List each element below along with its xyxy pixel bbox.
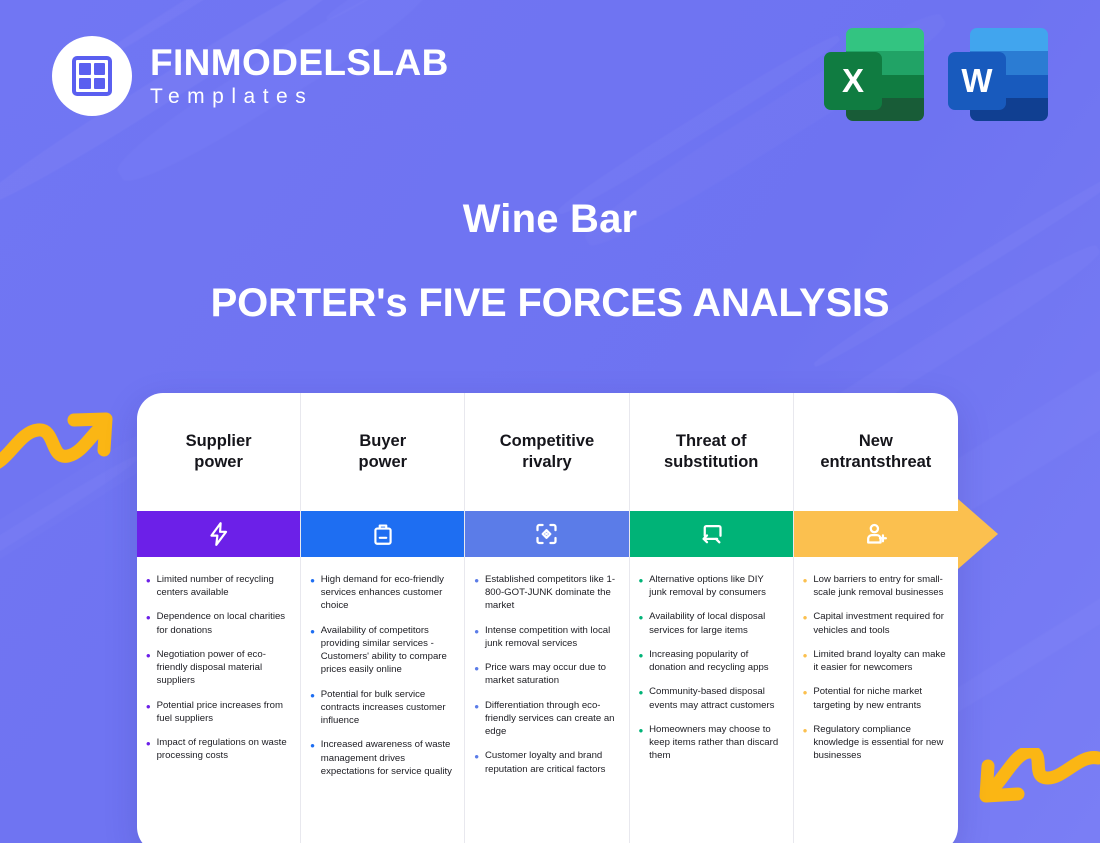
bullet-dot-icon: • [474, 661, 479, 687]
list-item: •Negotiation power of eco-friendly dispo… [146, 648, 288, 688]
list-item: •Potential price increases from fuel sup… [146, 699, 288, 725]
list-item: •Increased awareness of waste management… [310, 738, 452, 778]
file-format-badges: X W [824, 28, 1048, 121]
list-item: •Homeowners may choose to keep items rat… [639, 723, 781, 763]
list-item: •Limited brand loyalty can make it easie… [803, 648, 946, 674]
list-item: •Regulatory compliance knowledge is esse… [803, 723, 946, 763]
lightning-bolt-icon [206, 520, 232, 548]
column-title-line1: Supplier [186, 432, 252, 450]
swap-exchange-icon [698, 520, 725, 548]
list-item: •Established competitors like 1-800-GOT-… [474, 573, 616, 613]
bullet-dot-icon: • [639, 610, 644, 636]
bullet-dot-icon: • [310, 624, 315, 677]
bullet-dot-icon: • [474, 573, 479, 613]
excel-file-letter: X [824, 52, 882, 110]
column-title-line1: Buyer [359, 432, 406, 450]
column-header-competitive-rivalry: Competitive rivalry [465, 393, 628, 511]
bullet-dot-icon: • [146, 610, 151, 636]
bullet-dot-icon: • [803, 723, 808, 763]
brand-tagline: Templates [150, 85, 449, 108]
column-title-line2: entrantsthreat [820, 453, 931, 471]
bullet-dot-icon: • [803, 610, 808, 636]
target-focus-icon [533, 520, 560, 548]
porters-five-forces-card: Supplier power • Limited number of recyc… [137, 393, 958, 843]
column-header-supplier-power: Supplier power [137, 393, 300, 511]
column-title-line1: Threat of [676, 432, 747, 450]
force-column-threat-of-substitution: Threat of substitution • Alternative opt… [630, 393, 794, 843]
bullet-dot-icon: • [310, 573, 315, 613]
list-item: •Community-based disposal events may att… [639, 685, 781, 711]
column-bullet-list-buyer-power: • High demand for eco-friendly services … [301, 557, 464, 843]
bullet-dot-icon: • [310, 688, 315, 728]
brand-logo[interactable]: FINMODELSLAB Templates [52, 36, 449, 116]
squiggle-arrow-down-left-icon [972, 748, 1100, 823]
bullet-dot-icon: • [803, 685, 808, 711]
grid-squares-icon [52, 36, 132, 116]
column-band-buyer-power [301, 511, 464, 557]
word-file-letter: W [948, 52, 1006, 110]
bullet-dot-icon: • [146, 699, 151, 725]
column-title-line1: Competitive [500, 432, 594, 450]
list-item: •Availability of competitors providing s… [310, 624, 452, 677]
title-block: Wine Bar PORTER's FIVE FORCES ANALYSIS [0, 196, 1100, 326]
forces-columns: Supplier power • Limited number of recyc… [137, 393, 958, 843]
force-column-buyer-power: Buyer power • High demand for eco-friend… [301, 393, 465, 843]
list-item: •Intense competition with local junk rem… [474, 624, 616, 650]
bullet-dot-icon: • [146, 573, 151, 599]
list-item: •Customer loyalty and brand reputation a… [474, 749, 616, 775]
arrow-head-tip [958, 499, 998, 569]
add-user-icon [862, 520, 889, 548]
page-title: Wine Bar [0, 196, 1100, 242]
force-column-new-entrants-threat: New entrantsthreat • Low barriers to ent… [794, 393, 958, 843]
column-header-buyer-power: Buyer power [301, 393, 464, 511]
bullet-dot-icon: • [474, 699, 479, 739]
column-bullet-list-supplier-power: • Limited number of recycling centers av… [137, 557, 300, 843]
bullet-dot-icon: • [474, 749, 479, 775]
word-file-icon[interactable]: W [948, 28, 1048, 121]
column-bullet-list-new-entrants-threat: • Low barriers to entry for small-scale … [794, 557, 958, 843]
bullet-dot-icon: • [639, 573, 644, 599]
column-band-competitive-rivalry [465, 511, 628, 557]
bullet-dot-icon: • [474, 624, 479, 650]
bullet-dot-icon: • [639, 685, 644, 711]
page-subtitle: PORTER's FIVE FORCES ANALYSIS [0, 280, 1100, 326]
brand-name: FINMODELSLAB [150, 44, 449, 82]
bullet-dot-icon: • [146, 648, 151, 688]
force-column-supplier-power: Supplier power • Limited number of recyc… [137, 393, 301, 843]
bullet-dot-icon: • [639, 648, 644, 674]
excel-file-icon[interactable]: X [824, 28, 924, 121]
column-band-new-entrants-threat [794, 511, 958, 557]
column-title-line2: power [194, 453, 243, 471]
list-item: •Impact of regulations on waste processi… [146, 736, 288, 762]
list-item: • Low barriers to entry for small-scale … [803, 573, 946, 599]
column-band-threat-of-substitution [630, 511, 793, 557]
bullet-dot-icon: • [803, 648, 808, 674]
column-title-line2: power [358, 453, 407, 471]
column-band-supplier-power [137, 511, 300, 557]
list-item: •Capital investment required for vehicle… [803, 610, 946, 636]
column-title-line2: rivalry [522, 453, 572, 471]
column-bullet-list-threat-of-substitution: • Alternative options like DIY junk remo… [630, 557, 793, 843]
list-item: •Increasing popularity of donation and r… [639, 648, 781, 674]
list-item: •Dependence on local charities for donat… [146, 610, 288, 636]
column-header-threat-of-substitution: Threat of substitution [630, 393, 793, 511]
force-column-competitive-rivalry: Competitive rivalry •Established competi… [465, 393, 629, 843]
list-item: •Differentiation through eco-friendly se… [474, 699, 616, 739]
list-item: • Limited number of recycling centers av… [146, 573, 288, 599]
page-header: FINMODELSLAB Templates X W [0, 0, 1100, 150]
column-bullet-list-competitive-rivalry: •Established competitors like 1-800-GOT-… [465, 557, 628, 843]
column-title-line1: New [859, 432, 893, 450]
column-header-new-entrants-threat: New entrantsthreat [794, 393, 958, 511]
squiggle-arrow-up-right-icon [0, 404, 116, 481]
list-item: • Alternative options like DIY junk remo… [639, 573, 781, 599]
column-title-line2: substitution [664, 453, 758, 471]
list-item: •Potential for niche market targeting by… [803, 685, 946, 711]
bullet-dot-icon: • [803, 573, 808, 599]
list-item: •Price wars may occur due to market satu… [474, 661, 616, 687]
bullet-dot-icon: • [146, 736, 151, 762]
bullet-dot-icon: • [310, 738, 315, 778]
briefcase-icon [370, 520, 396, 548]
list-item: •Availability of local disposal services… [639, 610, 781, 636]
list-item: •Potential for bulk service contracts in… [310, 688, 452, 728]
list-item: • High demand for eco-friendly services … [310, 573, 452, 613]
bullet-dot-icon: • [639, 723, 644, 763]
